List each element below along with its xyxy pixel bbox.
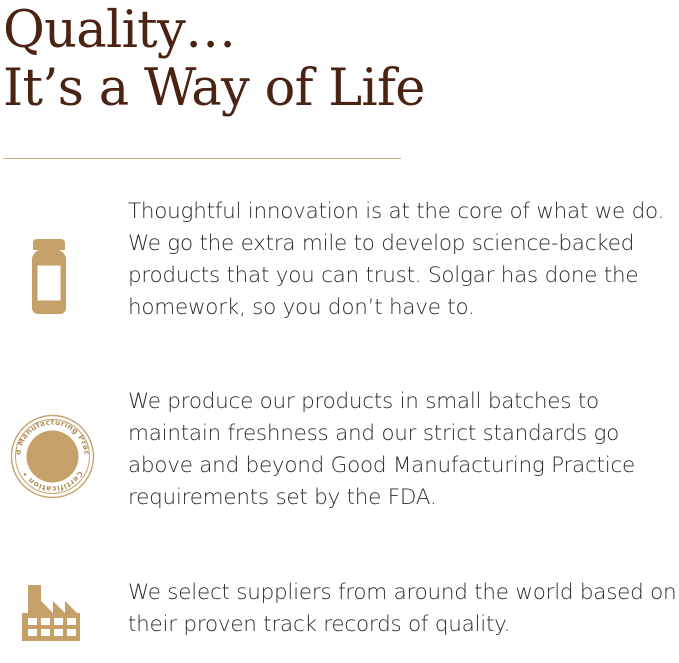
feature-text: Thoughtful innovation is at the core of …	[128, 196, 679, 324]
feature-icon-cell	[0, 577, 128, 650]
page-title-line-1: Quality…	[3, 0, 663, 60]
quality-page: Quality… It’s a Way of Life	[0, 0, 679, 663]
title-divider	[3, 158, 401, 159]
feature-text: We select suppliers from around the worl…	[128, 577, 679, 641]
gmp-quality-seal-icon: Good Manufacturing Practice Certificatio…	[10, 414, 95, 504]
page-title: Quality… It’s a Way of Life	[3, 0, 663, 118]
feature-paragraph: Thoughtful innovation is at the core of …	[128, 196, 679, 324]
gmp-seal-sub-label: Quality	[31, 532, 74, 545]
feature-icon-cell	[0, 196, 128, 321]
feature-paragraph: We produce our products in small batches…	[128, 386, 679, 514]
feature-icon-cell: Good Manufacturing Practice Certificatio…	[0, 386, 128, 504]
list-item: Good Manufacturing Practice Certificatio…	[0, 386, 679, 514]
list-item: We select suppliers from around the worl…	[0, 577, 679, 650]
feature-list: Thoughtful innovation is at the core of …	[0, 196, 679, 650]
feature-paragraph: We select suppliers from around the worl…	[128, 577, 679, 641]
supplement-bottle-icon	[22, 238, 76, 321]
feature-text: We produce our products in small batches…	[128, 386, 679, 514]
list-item: Thoughtful innovation is at the core of …	[0, 196, 679, 324]
factory-icon	[18, 583, 88, 650]
page-title-line-2: It’s a Way of Life	[3, 60, 663, 118]
gmp-seal-main-label: GMP	[28, 513, 77, 532]
